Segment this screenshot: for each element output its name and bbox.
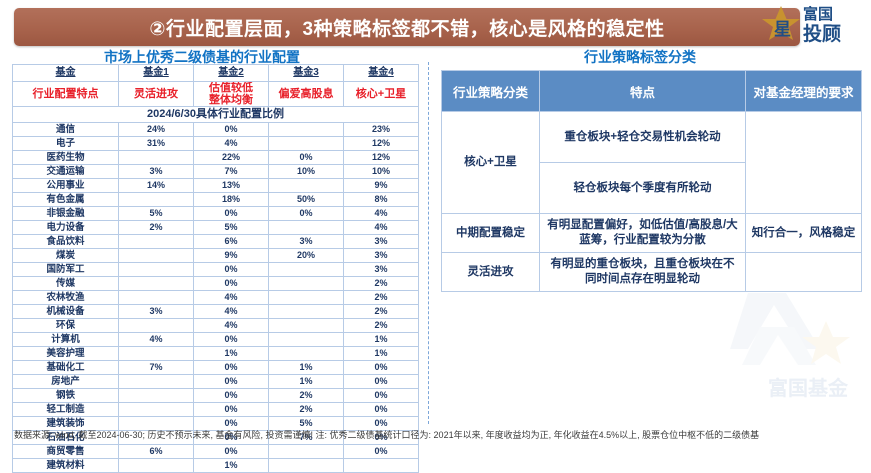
brand-logo: 星 富国 投顾	[759, 2, 867, 46]
table-row: 国防军工0%3%	[13, 263, 419, 277]
allocation-value	[119, 193, 194, 207]
allocation-value: 0%	[194, 361, 269, 375]
footer-note: 数据来源: wind, 截至2024-06-30; 历史不预示未来, 基金有风险…	[14, 429, 859, 442]
industry-name: 建筑材料	[13, 459, 119, 473]
allocation-value: 4%	[344, 207, 419, 221]
allocation-value	[119, 375, 194, 389]
industry-name: 环保	[13, 319, 119, 333]
industry-name: 食品饮料	[13, 235, 119, 249]
header-cell: 基金1	[119, 65, 194, 82]
allocation-value: 0%	[194, 333, 269, 347]
table-row: 建筑材料1%	[13, 459, 419, 473]
industry-name: 通信	[13, 123, 119, 137]
allocation-value	[119, 151, 194, 165]
allocation-value: 5%	[194, 221, 269, 235]
allocation-value	[344, 459, 419, 473]
allocation-value: 0%	[344, 445, 419, 459]
allocation-value: 1%	[269, 361, 344, 375]
strategy-category: 核心+卫星	[442, 112, 540, 214]
industry-name: 钢铁	[13, 389, 119, 403]
table-row: 电力设备2%5%4%	[13, 221, 419, 235]
allocation-value	[119, 403, 194, 417]
allocation-value	[269, 291, 344, 305]
strategy-requirement	[746, 253, 862, 292]
table-header-row: 基金 基金1 基金2 基金3 基金4	[13, 65, 419, 82]
allocation-value: 4%	[119, 333, 194, 347]
allocation-value: 2%	[344, 305, 419, 319]
industry-name: 有色金属	[13, 193, 119, 207]
strategy-feature: 重仓板块+轻仓交易性机会轮动	[540, 112, 746, 163]
table-row: 环保4%2%	[13, 319, 419, 333]
industry-name: 传媒	[13, 277, 119, 291]
table-row: 基础化工7%0%1%0%	[13, 361, 419, 375]
strategy-header-row: 行业策略分类 特点 对基金经理的要求	[442, 71, 862, 112]
allocation-value: 12%	[344, 151, 419, 165]
industry-name: 非银金融	[13, 207, 119, 221]
allocation-value	[119, 291, 194, 305]
allocation-value	[119, 263, 194, 277]
table-row: 轻工制造0%2%0%	[13, 403, 419, 417]
allocation-value: 0%	[194, 445, 269, 459]
strategy-label-table: 行业策略分类 特点 对基金经理的要求 核心+卫星重仓板块+轻仓交易性机会轮动轻仓…	[441, 70, 862, 292]
allocation-value: 6%	[194, 235, 269, 249]
allocation-value: 9%	[194, 249, 269, 263]
allocation-value: 3%	[119, 165, 194, 179]
allocation-value: 2%	[344, 319, 419, 333]
feature-fund2: 估值较低 整体均衡	[194, 82, 269, 107]
allocation-value: 12%	[344, 137, 419, 151]
watermark-text: 富国基金	[768, 376, 849, 400]
table-row: 有色金属18%50%8%	[13, 193, 419, 207]
svg-text:投顾: 投顾	[803, 22, 841, 45]
table-row: 交通运输3%7%10%10%	[13, 165, 419, 179]
allocation-value: 0%	[194, 123, 269, 137]
table-row: 农林牧渔4%2%	[13, 291, 419, 305]
allocation-value: 0%	[194, 375, 269, 389]
allocation-value: 3%	[344, 263, 419, 277]
allocation-value: 1%	[269, 375, 344, 389]
allocation-value: 0%	[269, 151, 344, 165]
allocation-value: 14%	[119, 179, 194, 193]
allocation-value: 7%	[119, 361, 194, 375]
header-cell: 基金3	[269, 65, 344, 82]
allocation-value: 1%	[194, 347, 269, 361]
allocation-value	[269, 277, 344, 291]
header-cell: 基金2	[194, 65, 269, 82]
allocation-value: 8%	[344, 193, 419, 207]
allocation-value: 4%	[344, 221, 419, 235]
allocation-value: 2%	[119, 221, 194, 235]
feature-fund2-line1: 估值较低	[194, 82, 268, 94]
header-cell: 基金4	[344, 65, 419, 82]
table-row: 煤炭9%20%3%	[13, 249, 419, 263]
panel-divider	[428, 62, 429, 424]
allocation-value	[119, 249, 194, 263]
allocation-value	[119, 459, 194, 473]
allocation-value: 22%	[194, 151, 269, 165]
feature-label: 行业配置特点	[13, 82, 119, 107]
strategy-row: 中期配置稳定有明显配置偏好，如低估值/高股息/大蓝筹，行业配置较为分散知行合一，…	[442, 214, 862, 253]
allocation-value: 0%	[194, 389, 269, 403]
allocation-value: 5%	[119, 207, 194, 221]
allocation-value: 50%	[269, 193, 344, 207]
allocation-value: 0%	[269, 207, 344, 221]
allocation-value: 2%	[344, 277, 419, 291]
feature-row: 行业配置特点 灵活进攻 估值较低 整体均衡 偏爱高股息 核心+卫星	[13, 82, 419, 107]
strategy-header-category: 行业策略分类	[442, 71, 540, 112]
allocation-value: 3%	[119, 305, 194, 319]
allocation-value: 0%	[194, 277, 269, 291]
strategy-requirement	[746, 112, 862, 214]
strategy-feature: 轻仓板块每个季度有所轮动	[540, 163, 746, 214]
allocation-value	[269, 221, 344, 235]
allocation-value	[269, 305, 344, 319]
allocation-value: 0%	[344, 361, 419, 375]
industry-name: 计算机	[13, 333, 119, 347]
strategy-header-requirement: 对基金经理的要求	[746, 71, 862, 112]
section-label: 2024/6/30具体行业配置比例	[13, 107, 419, 123]
allocation-value: 0%	[194, 263, 269, 277]
allocation-value: 20%	[269, 249, 344, 263]
allocation-value: 4%	[194, 291, 269, 305]
industry-name: 电力设备	[13, 221, 119, 235]
allocation-value: 0%	[194, 403, 269, 417]
allocation-value: 31%	[119, 137, 194, 151]
header-cell: 基金	[13, 65, 119, 82]
allocation-value	[269, 137, 344, 151]
strategy-header-feature: 特点	[540, 71, 746, 112]
table-row: 公用事业14%13%9%	[13, 179, 419, 193]
strategy-category: 灵活进攻	[442, 253, 540, 292]
allocation-value: 7%	[194, 165, 269, 179]
feature-fund3: 偏爱高股息	[269, 82, 344, 107]
allocation-value: 2%	[269, 389, 344, 403]
feature-fund1: 灵活进攻	[119, 82, 194, 107]
allocation-value: 0%	[194, 207, 269, 221]
page-title: ②行业配置层面，3种策略标签都不错，核心是风格的稳定性	[149, 14, 664, 41]
allocation-value	[269, 347, 344, 361]
watermark: 富国基金	[690, 287, 865, 417]
allocation-value: 4%	[194, 305, 269, 319]
table-row: 美容护理1%1%	[13, 347, 419, 361]
table-row: 商贸零售6%0%0%	[13, 445, 419, 459]
allocation-value: 2%	[269, 403, 344, 417]
allocation-value: 24%	[119, 123, 194, 137]
table-row: 房地产0%1%0%	[13, 375, 419, 389]
section-label-row: 2024/6/30具体行业配置比例	[13, 107, 419, 123]
allocation-value	[119, 389, 194, 403]
svg-text:富国: 富国	[803, 5, 833, 23]
allocation-value: 3%	[269, 235, 344, 249]
table-row: 机械设备3%4%2%	[13, 305, 419, 319]
right-panel-subtitle: 行业策略标签分类	[584, 47, 696, 67]
allocation-value	[269, 333, 344, 347]
allocation-value	[119, 277, 194, 291]
table-row: 医药生物22%0%12%	[13, 151, 419, 165]
table-row: 传媒0%2%	[13, 277, 419, 291]
allocation-value	[269, 123, 344, 137]
allocation-value: 4%	[194, 319, 269, 333]
industry-name: 机械设备	[13, 305, 119, 319]
industry-name: 轻工制造	[13, 403, 119, 417]
allocation-value: 0%	[344, 375, 419, 389]
strategy-requirement: 知行合一，风格稳定	[746, 214, 862, 253]
industry-name: 基础化工	[13, 361, 119, 375]
allocation-value: 2%	[344, 291, 419, 305]
industry-name: 农林牧渔	[13, 291, 119, 305]
strategy-feature: 有明显配置偏好，如低估值/高股息/大蓝筹，行业配置较为分散	[540, 214, 746, 253]
industry-name: 房地产	[13, 375, 119, 389]
industry-name: 美容护理	[13, 347, 119, 361]
industry-name: 电子	[13, 137, 119, 151]
allocation-value	[269, 263, 344, 277]
allocation-value: 3%	[344, 249, 419, 263]
allocation-value: 18%	[194, 193, 269, 207]
star-logo-icon: 星 富国 投顾	[759, 2, 867, 46]
allocation-value	[119, 235, 194, 249]
industry-name: 交通运输	[13, 165, 119, 179]
allocation-value	[269, 445, 344, 459]
industry-name: 公用事业	[13, 179, 119, 193]
allocation-value: 0%	[344, 389, 419, 403]
allocation-value: 1%	[344, 347, 419, 361]
table-row: 电子31%4%12%	[13, 137, 419, 151]
allocation-value	[269, 459, 344, 473]
table-row: 非银金融5%0%0%4%	[13, 207, 419, 221]
strategy-row: 核心+卫星重仓板块+轻仓交易性机会轮动	[442, 112, 862, 163]
allocation-value: 10%	[344, 165, 419, 179]
allocation-value: 13%	[194, 179, 269, 193]
allocation-value	[269, 319, 344, 333]
allocation-value	[269, 179, 344, 193]
table-row: 通信24%0%23%	[13, 123, 419, 137]
allocation-value: 0%	[344, 403, 419, 417]
strategy-row: 灵活进攻有明显的重仓板块，且重仓板块在不同时间点存在明显轮动	[442, 253, 862, 292]
strategy-category: 中期配置稳定	[442, 214, 540, 253]
strategy-feature: 有明显的重仓板块，且重仓板块在不同时间点存在明显轮动	[540, 253, 746, 292]
industry-name: 国防军工	[13, 263, 119, 277]
feature-fund4: 核心+卫星	[344, 82, 419, 107]
allocation-value: 1%	[344, 333, 419, 347]
allocation-value: 9%	[344, 179, 419, 193]
industry-allocation-table: 基金 基金1 基金2 基金3 基金4 行业配置特点 灵活进攻 估值较低 整体均衡…	[12, 64, 419, 473]
table-row: 钢铁0%2%0%	[13, 389, 419, 403]
table-row: 计算机4%0%1%	[13, 333, 419, 347]
allocation-value: 10%	[269, 165, 344, 179]
feature-fund2-line2: 整体均衡	[194, 94, 268, 106]
industry-name: 医药生物	[13, 151, 119, 165]
page-title-bar: ②行业配置层面，3种策略标签都不错，核心是风格的稳定性	[14, 8, 800, 46]
allocation-value: 6%	[119, 445, 194, 459]
svg-text:星: 星	[774, 20, 791, 39]
allocation-value: 4%	[194, 137, 269, 151]
allocation-value: 23%	[344, 123, 419, 137]
industry-name: 商贸零售	[13, 445, 119, 459]
allocation-value: 3%	[344, 235, 419, 249]
table-row: 食品饮料6%3%3%	[13, 235, 419, 249]
allocation-value	[119, 347, 194, 361]
allocation-value	[119, 319, 194, 333]
allocation-value: 1%	[194, 459, 269, 473]
industry-name: 煤炭	[13, 249, 119, 263]
